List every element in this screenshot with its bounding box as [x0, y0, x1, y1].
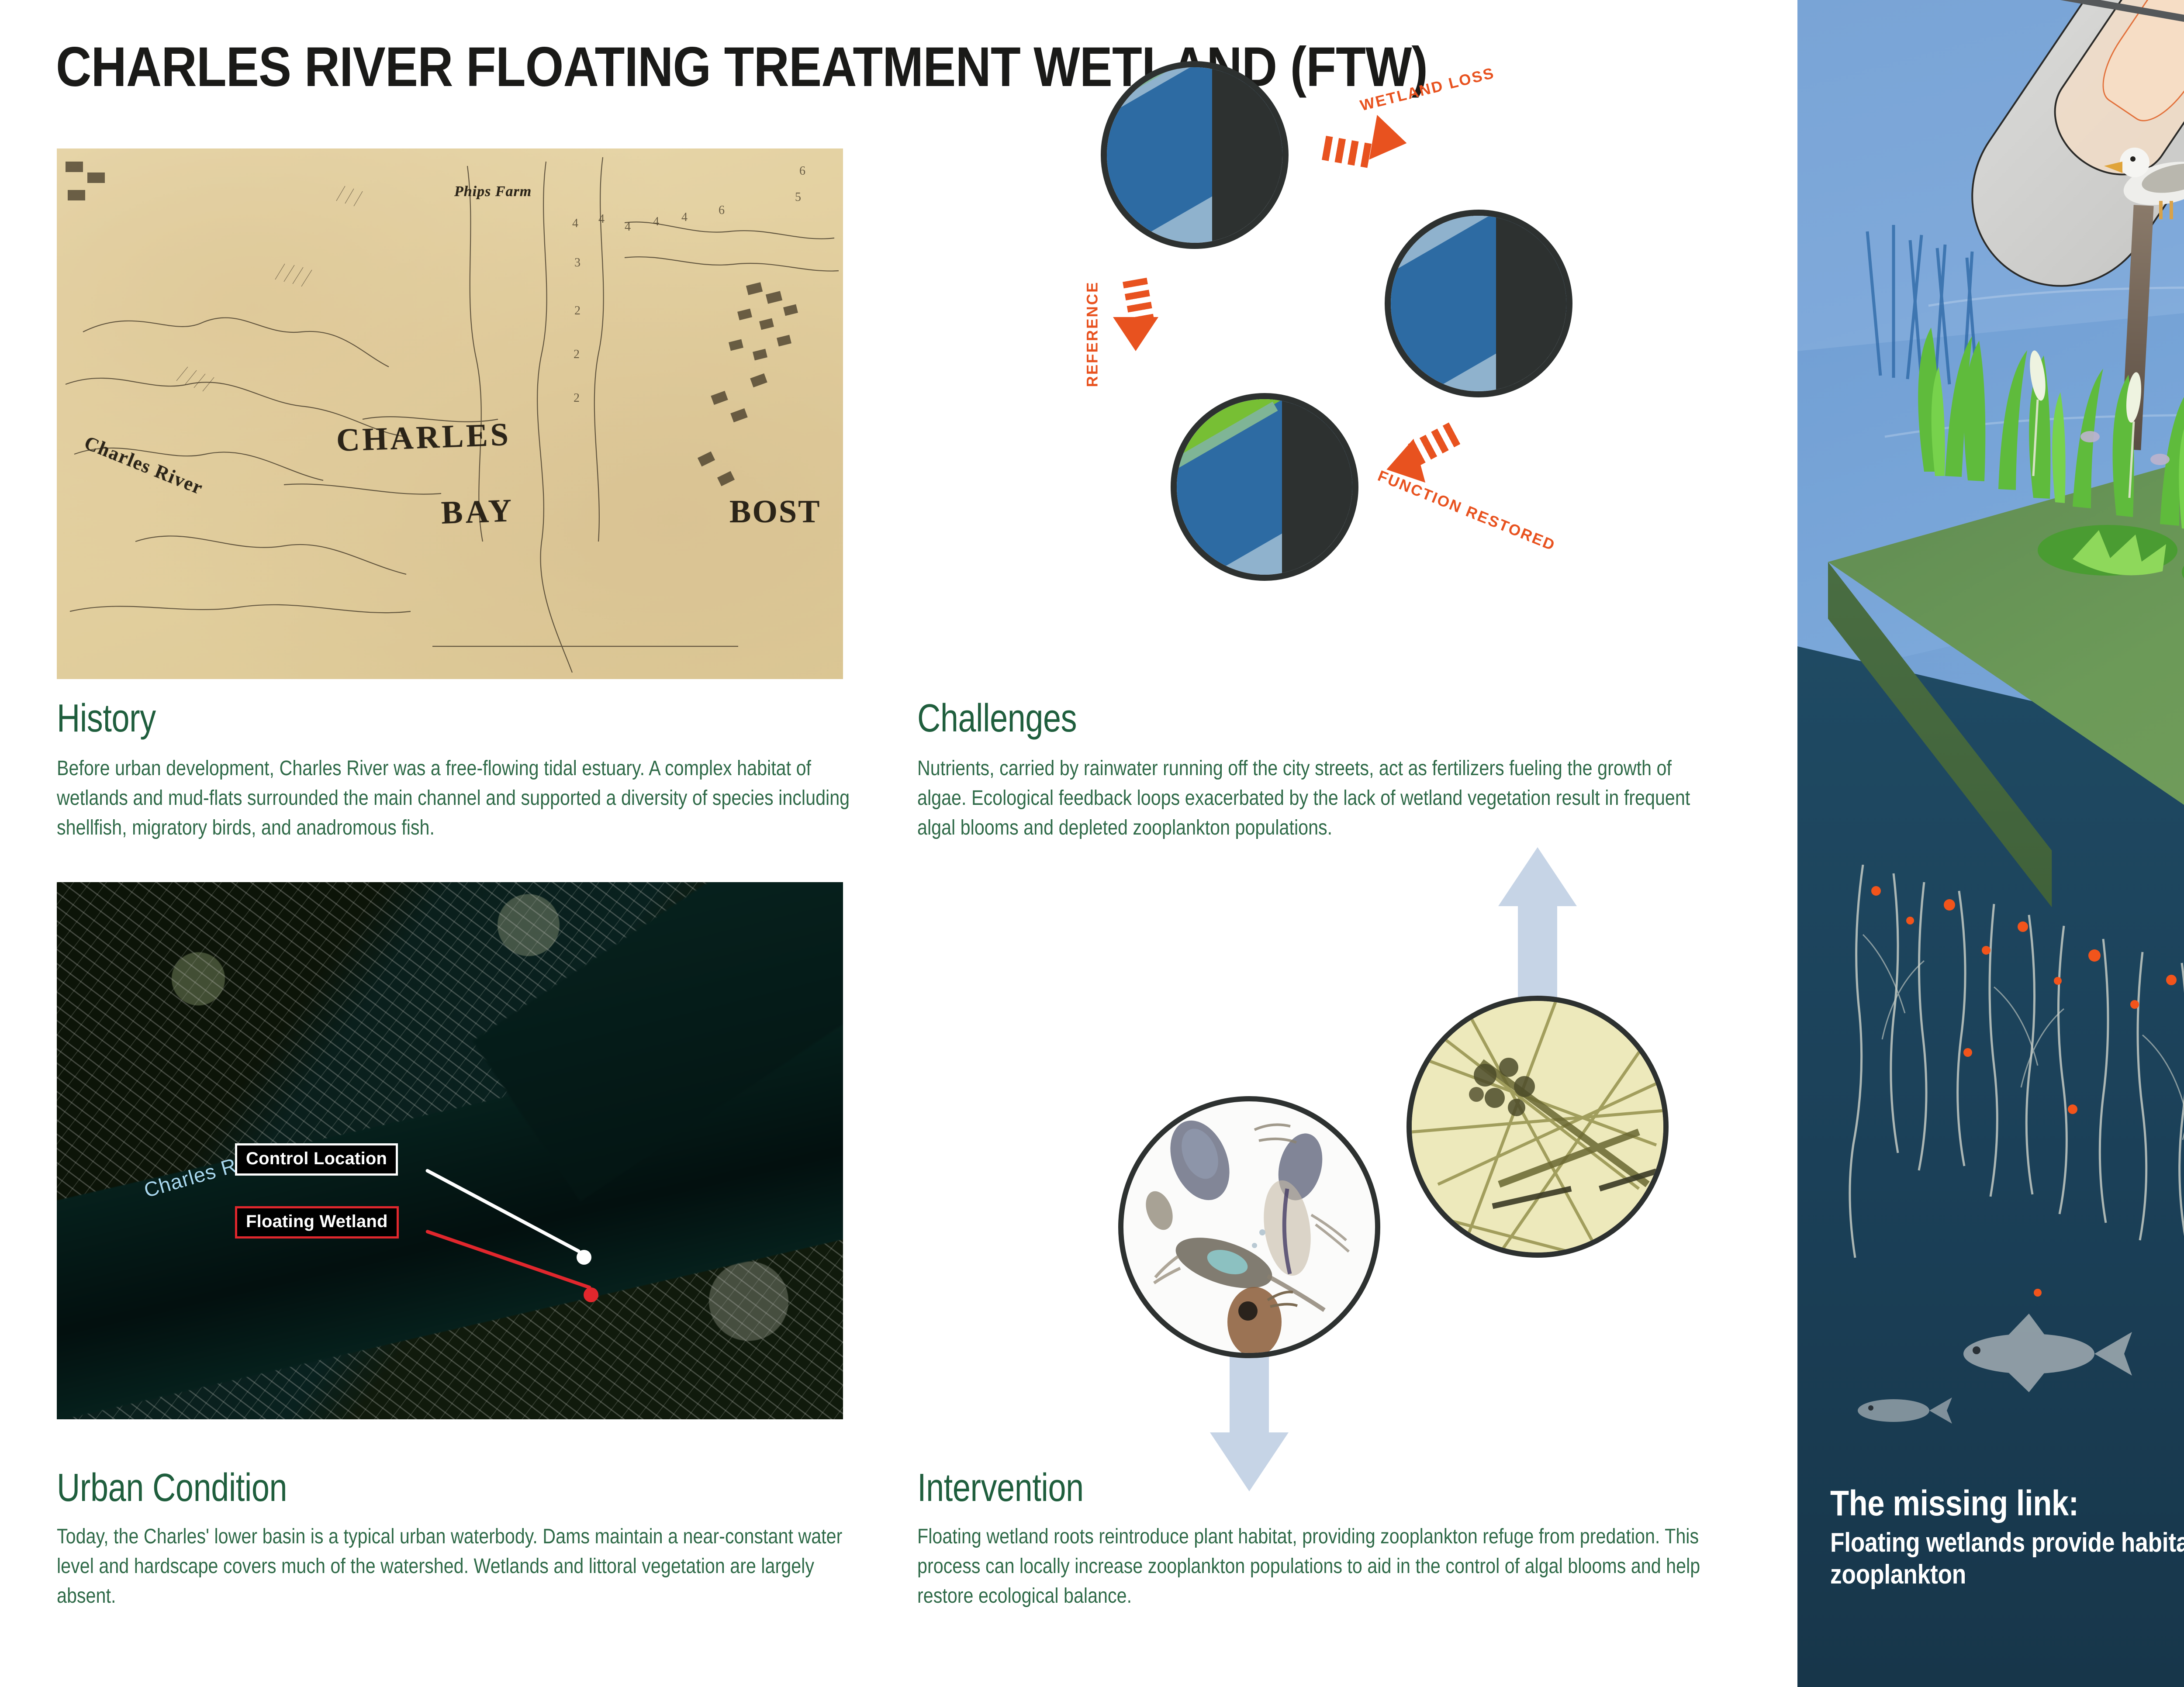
illustration-title: The missing link: Floating wetlands prov… — [1830, 1485, 2184, 1590]
svg-text:4: 4 — [572, 217, 578, 230]
cycle-arrow-label-function-restored: FUNCTION RESTORED — [1375, 467, 1558, 555]
map-label-charles: CHARLES — [336, 416, 511, 459]
fish-swimming — [1845, 1280, 2184, 1463]
cycle-state-vegetated-wetland — [1101, 61, 1289, 249]
svg-text:2: 2 — [574, 304, 581, 317]
map-label-boston: BOST — [729, 493, 821, 531]
section-heading-intervention: Intervention — [917, 1468, 1084, 1508]
feedback-loop-diagram — [1066, 847, 1747, 1459]
feedback-arrow-down — [1210, 1341, 1289, 1498]
poster-canvas: CHARLES RIVER FLOATING TREATMENT WETLAND… — [0, 0, 2184, 1687]
map-label-bay: BAY — [441, 492, 515, 532]
algae-micrograph-photo — [1406, 996, 1669, 1258]
marsh-vegetation — [1828, 131, 2184, 677]
svg-text:4: 4 — [598, 212, 605, 226]
zooplankton-micrograph-photo — [1118, 1096, 1380, 1358]
svg-text:2: 2 — [574, 348, 580, 361]
cycle-state-hardened-edge — [1385, 210, 1572, 397]
svg-text:4: 4 — [625, 220, 631, 234]
floating-wetland-illustration: Algae blooms make water toxic to people … — [1797, 0, 2184, 1687]
satellite-map-image: Charles River Control Location Floating … — [57, 882, 843, 1419]
section-body-history: Before urban development, Charles River … — [57, 754, 864, 843]
cycle-state-floating-wetland — [1171, 393, 1358, 581]
map-callout-control-location: Control Location — [235, 1143, 398, 1176]
control-location-marker — [577, 1250, 591, 1265]
svg-text:4: 4 — [653, 215, 659, 228]
section-heading-urban-condition: Urban Condition — [57, 1468, 287, 1508]
svg-text:4: 4 — [681, 210, 688, 224]
wetland-cycle-diagram: WETLAND LOSS REFERENCE FUNCTION RESTORED — [1040, 61, 1695, 664]
illustration-title-line2: Floating wetlands provide habitat for zo… — [1830, 1527, 2184, 1590]
cycle-arrow-label-reference: REFERENCE — [1084, 281, 1101, 387]
svg-text:3: 3 — [574, 256, 581, 269]
floating-wetland-marker — [584, 1287, 598, 1302]
svg-text:5: 5 — [795, 190, 801, 204]
section-body-intervention: Floating wetland roots reintroduce plant… — [917, 1522, 1736, 1611]
map-label-farm: Phips Farm — [454, 183, 532, 200]
map-callout-floating-wetland: Floating Wetland — [235, 1206, 399, 1239]
map-ink-lines: 44 44 46 32 22 65 — [57, 148, 843, 679]
section-body-challenges: Nutrients, carried by rainwater running … — [917, 754, 1725, 843]
feedback-arrow-up — [1498, 847, 1577, 1004]
cycle-arrow-label-wetland-loss: WETLAND LOSS — [1358, 64, 1496, 114]
section-body-urban-condition: Today, the Charles' lower basin is a typ… — [57, 1522, 876, 1611]
left-info-panel: CHARLES RIVER FLOATING TREATMENT WETLAND… — [0, 0, 1797, 1687]
svg-text:6: 6 — [719, 204, 725, 217]
historical-map-image: 44 44 46 32 22 65 CHARLES BAY BOST Charl… — [57, 148, 843, 679]
illustration-title-line1: The missing link: — [1830, 1485, 2184, 1522]
svg-text:2: 2 — [574, 391, 580, 405]
section-heading-history: History — [57, 699, 156, 738]
svg-text:6: 6 — [799, 164, 805, 178]
section-heading-challenges: Challenges — [917, 699, 1077, 738]
